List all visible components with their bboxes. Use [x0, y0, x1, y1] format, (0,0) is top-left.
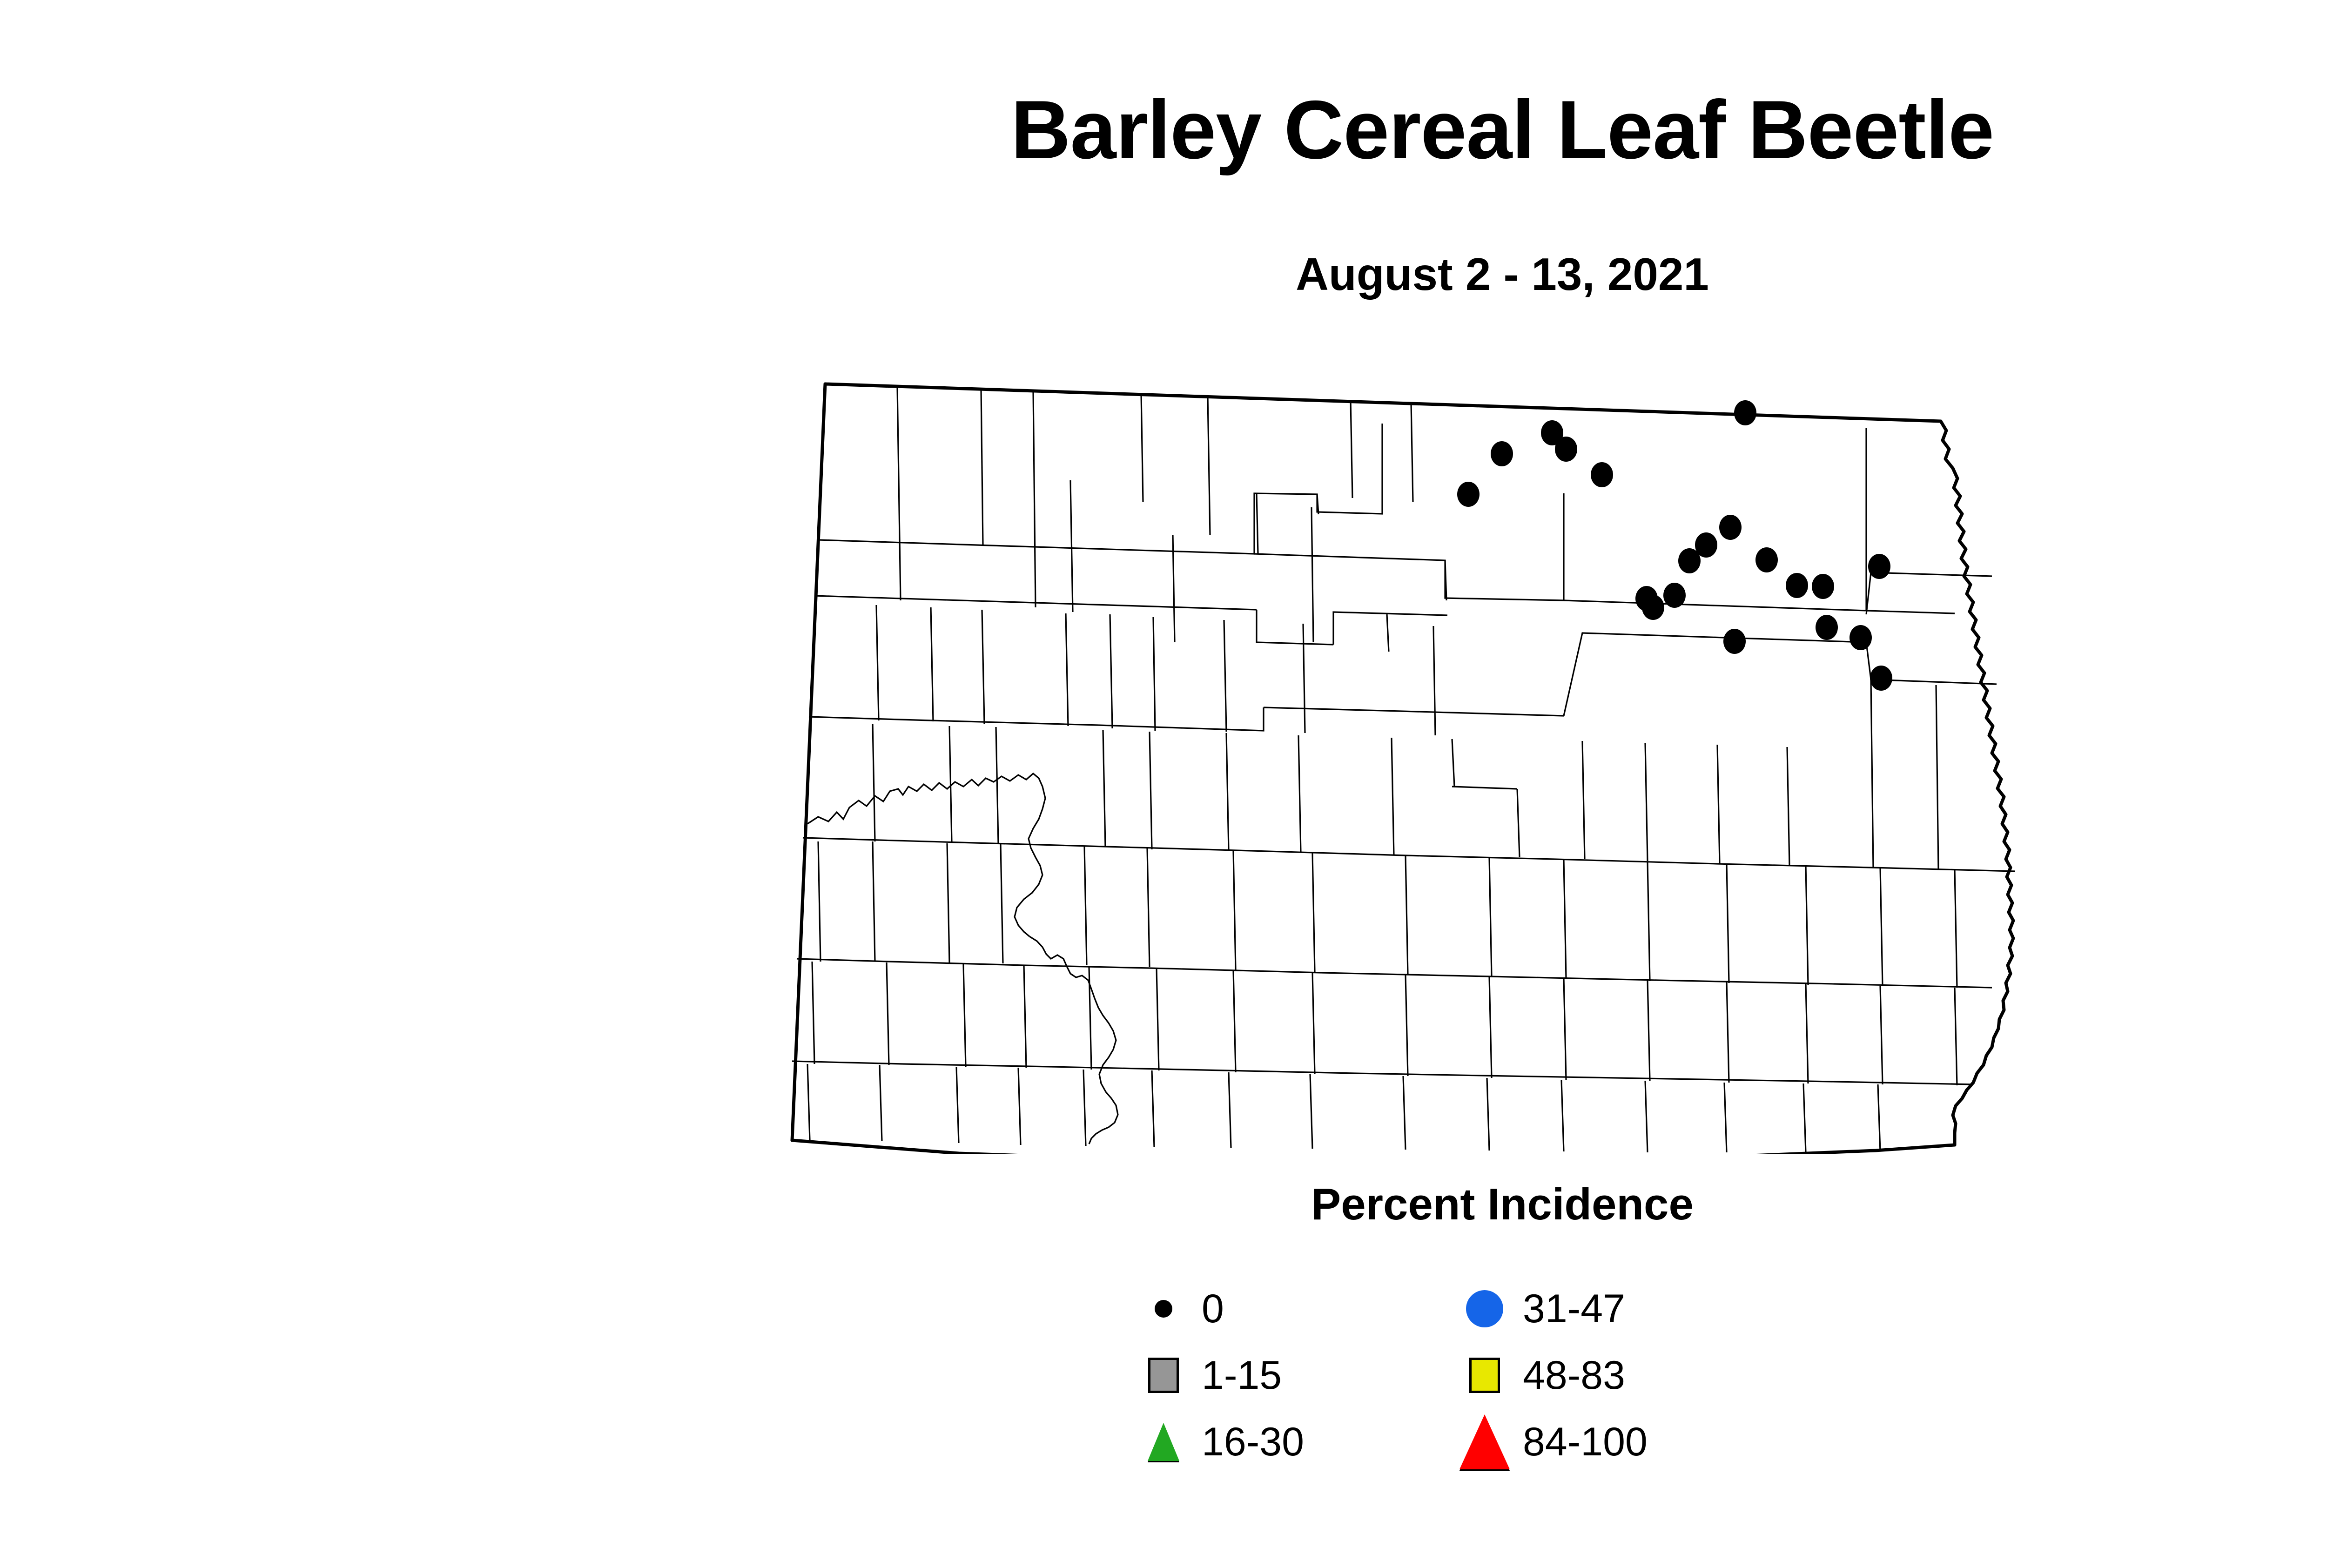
legend-label: 0	[1202, 1289, 1224, 1329]
data-point-layer	[1457, 400, 1892, 691]
state-outline	[792, 384, 2013, 1154]
legend-label: 1-15	[1202, 1355, 1282, 1395]
legend-item-0[interactable]: 0	[1136, 1275, 1433, 1342]
map-data-point	[1555, 437, 1577, 462]
legend-row: 16-30 84-100	[1136, 1408, 1927, 1475]
legend-swatch-square-yellow-icon	[1457, 1347, 1513, 1403]
map-data-point	[1786, 573, 1808, 598]
legend-row: 0 31-47	[1136, 1275, 1927, 1342]
legend: Percent Incidence 0 31-47 1-15	[0, 1182, 2327, 1227]
map-data-point	[1591, 462, 1613, 487]
legend-swatch-circle-blue-icon	[1457, 1281, 1513, 1337]
map-data-point	[1491, 441, 1513, 466]
county-boundaries	[792, 384, 2015, 1152]
legend-swatch-triangle-red-icon	[1457, 1414, 1513, 1470]
legend-grid: 0 31-47 1-15 48-83	[1136, 1275, 1927, 1475]
map-data-point	[1816, 615, 1838, 640]
legend-item-2[interactable]: 16-30	[1136, 1408, 1433, 1475]
legend-label: 16-30	[1202, 1422, 1304, 1462]
map-data-point	[1734, 400, 1756, 425]
legend-item-5[interactable]: 84-100	[1457, 1408, 1755, 1475]
legend-item-4[interactable]: 48-83	[1457, 1342, 1755, 1408]
map-data-point	[1723, 629, 1746, 654]
legend-item-3[interactable]: 31-47	[1457, 1275, 1755, 1342]
north-dakota-county-map	[763, 354, 2080, 1154]
legend-title: Percent Incidence	[0, 1182, 2327, 1227]
map-data-point	[1755, 547, 1778, 572]
figure-root: Barley Cereal Leaf Beetle August 2 - 13,…	[0, 0, 2327, 1568]
map-data-point	[1849, 625, 1872, 650]
legend-swatch-square-gray-icon	[1136, 1347, 1191, 1403]
legend-label: 31-47	[1523, 1289, 1625, 1329]
map-data-point	[1870, 666, 1892, 691]
map-svg	[763, 354, 2080, 1154]
map-data-point	[1678, 548, 1701, 573]
legend-label: 84-100	[1523, 1422, 1648, 1462]
page-title: Barley Cereal Leaf Beetle	[0, 88, 2327, 171]
map-data-point	[1663, 583, 1686, 608]
map-data-point	[1642, 595, 1664, 620]
map-data-point	[1812, 574, 1834, 599]
map-data-point	[1457, 482, 1480, 507]
legend-swatch-circle-black-icon	[1136, 1281, 1191, 1337]
legend-label: 48-83	[1523, 1355, 1625, 1395]
legend-row: 1-15 48-83	[1136, 1342, 1927, 1408]
page-subtitle: August 2 - 13, 2021	[0, 251, 2327, 297]
map-data-point	[1868, 554, 1890, 579]
legend-item-1[interactable]: 1-15	[1136, 1342, 1433, 1408]
legend-swatch-triangle-green-icon	[1136, 1414, 1191, 1470]
map-data-point	[1719, 515, 1742, 540]
